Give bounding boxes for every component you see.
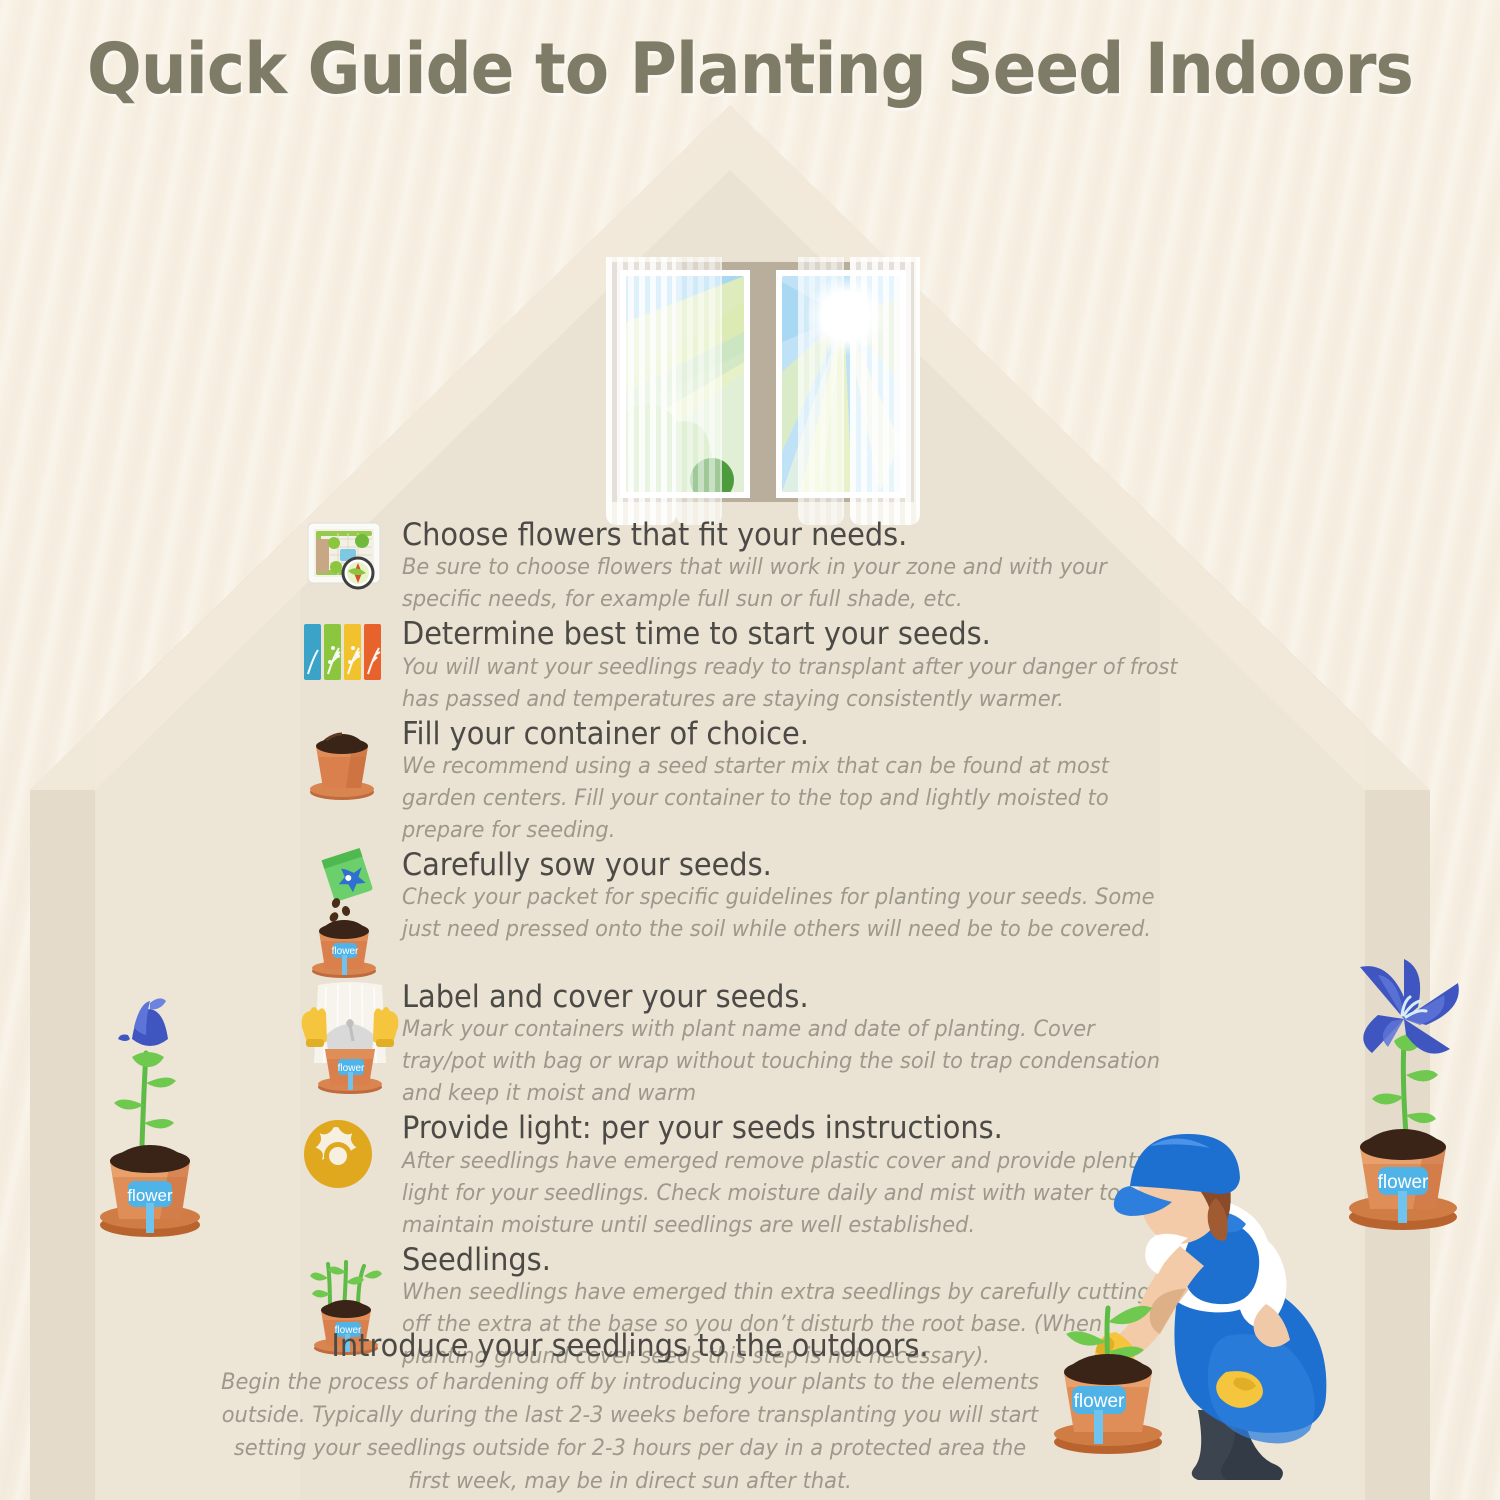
step-item: Determine best time to start your seeds.…	[300, 618, 1240, 715]
curtain-left	[606, 257, 676, 525]
footer-heading: Introduce your seedlings to the outdoors…	[212, 1328, 1049, 1364]
step-item: flower Carefully sow your seeds. Check y…	[300, 849, 1240, 979]
step-heading: Label and cover your seeds.	[402, 981, 1181, 1014]
step-text: Be sure to choose flowers that will work…	[402, 552, 1181, 616]
covered-pot-gloves-icon: flower	[300, 981, 396, 1093]
page-title: Quick Guide to Planting Seed Indoors	[60, 34, 1440, 104]
pot-tag-text: flower	[1074, 1391, 1125, 1412]
pot-tag-text: flower	[332, 946, 359, 957]
curtain-right-inner	[798, 257, 844, 525]
step-heading: Fill your container of choice.	[402, 718, 1181, 751]
gardener-illustration: flower	[1030, 1090, 1370, 1490]
footer-text: Begin the process of hardening off by in…	[212, 1366, 1049, 1497]
filled-pot-icon	[300, 718, 396, 802]
step-heading: Carefully sow your seeds.	[402, 849, 1181, 882]
step-text: We recommend using a seed starter mix th…	[402, 751, 1181, 847]
step-item: Fill your container of choice. We recomm…	[300, 718, 1240, 847]
footer-section: Introduce your seedlings to the outdoors…	[180, 1328, 1080, 1497]
step-heading: Determine best time to start your seeds.	[402, 618, 1181, 651]
step-body: Carefully sow your seeds. Check your pac…	[396, 849, 1240, 946]
pot-tag-text: flower	[338, 1063, 365, 1074]
curtain-right	[850, 257, 920, 525]
step-text: Check your packet for specific guideline…	[402, 882, 1181, 946]
step-item: Choose flowers that fit your needs. Be s…	[300, 519, 1240, 616]
step-body: Fill your container of choice. We recomm…	[396, 718, 1240, 847]
step-body: Choose flowers that fit your needs. Be s…	[396, 519, 1240, 616]
window-illustration	[612, 262, 914, 520]
seed-packet-sowing-icon: flower	[300, 849, 396, 979]
step-heading: Choose flowers that fit your needs.	[402, 519, 1181, 552]
step-body: Determine best time to start your seeds.…	[396, 618, 1240, 715]
left-potted-plant: flower	[70, 965, 230, 1255]
infographic-poster: Quick Guide to Planting Seed Indoors	[0, 0, 1500, 1500]
step-text: You will want your seedlings ready to tr…	[402, 652, 1181, 716]
garden-plan-compass-icon	[300, 519, 396, 601]
pot-tag-text: flower	[1378, 1172, 1429, 1193]
sun-icon	[300, 1112, 396, 1192]
pot-tag-text: flower	[127, 1186, 173, 1205]
four-seasons-icon	[300, 618, 396, 684]
curtain-left-inner	[676, 257, 722, 525]
